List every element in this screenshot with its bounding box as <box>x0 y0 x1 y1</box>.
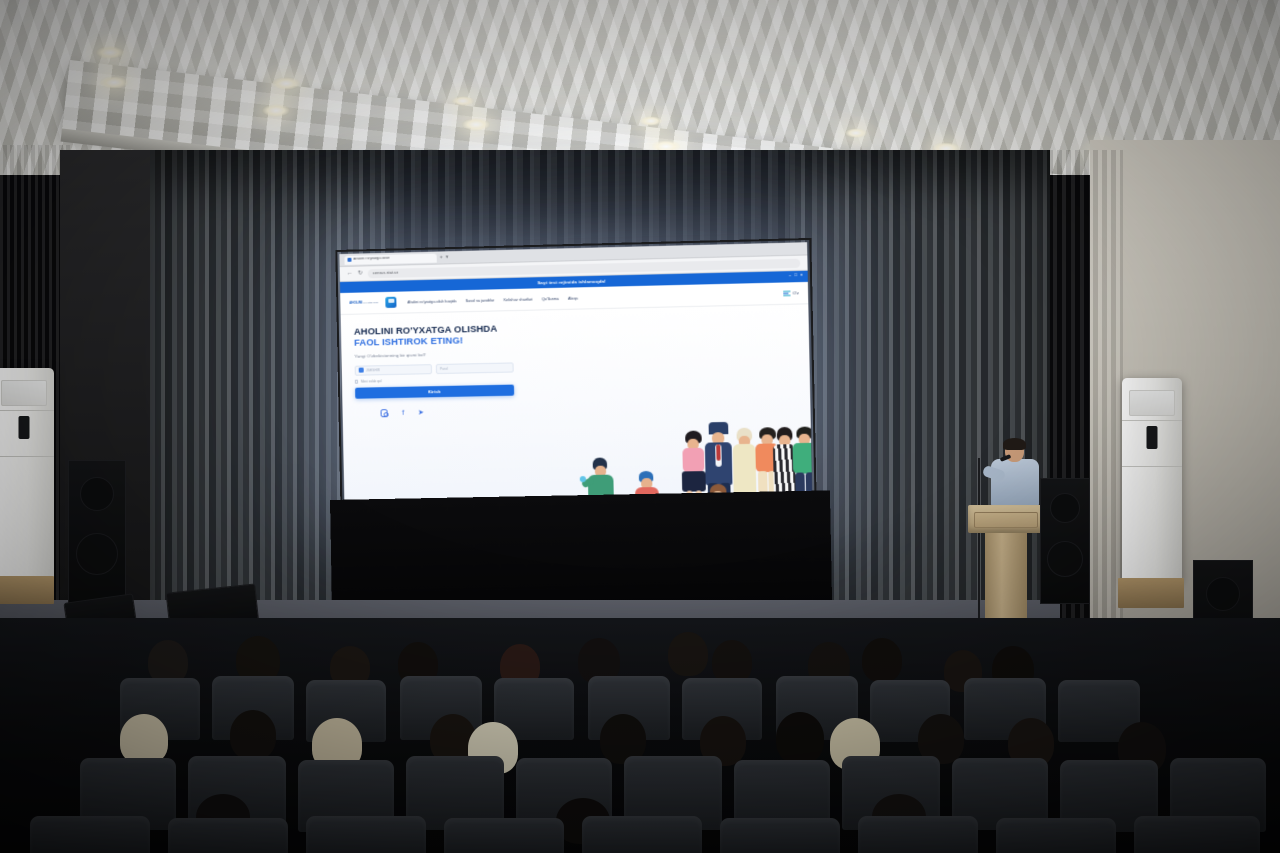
password-field[interactable]: Parol <box>436 362 514 374</box>
social-links: f ➤ <box>356 406 558 417</box>
audience-seat <box>858 816 978 853</box>
new-tab-button[interactable]: + <box>440 255 443 260</box>
back-arrow-icon[interactable]: ← <box>347 271 353 277</box>
ac-grille <box>1 380 47 406</box>
audience-head <box>862 638 902 682</box>
nav-item-terms[interactable]: Kelishuv shartlari <box>503 297 532 302</box>
logo-line1: AHOLINI <box>349 300 362 304</box>
secondary-logo-icon[interactable] <box>385 297 396 308</box>
audience-head <box>230 710 276 760</box>
favicon <box>347 258 351 262</box>
hero-subtitle: Yangi O'zbekistonning bir qismi bo'l! <box>354 349 556 358</box>
ac-right-base <box>1118 578 1184 608</box>
checkbox-box-icon <box>355 380 358 383</box>
password-placeholder: Parol <box>440 367 448 371</box>
language-bars-icon <box>783 290 790 296</box>
speaker-driver <box>76 533 118 575</box>
web-page: Sayt test rejimida ishlamoqda! – □ × AHO… <box>340 271 813 514</box>
speaker-driver <box>1206 577 1240 611</box>
login-form: JSHSHIR Parol Meni eslab qol Kirish <box>355 362 515 399</box>
audience-head <box>668 632 708 676</box>
browser-tab[interactable]: Aholini ro'yxatga olish <box>344 253 436 264</box>
air-conditioner-left <box>0 368 54 580</box>
ceiling-spotlight <box>845 128 867 138</box>
speaker-right-stage <box>1040 478 1090 604</box>
id-placeholder: JSHSHIR <box>366 368 380 372</box>
speaker-left-stage <box>68 460 126 612</box>
ceiling-spotlight <box>452 96 474 106</box>
address-text: census.stat.uz <box>373 271 398 276</box>
language-switcher[interactable]: O'z <box>783 290 798 296</box>
audience-seat <box>444 818 564 853</box>
presenter-hair <box>1003 438 1026 450</box>
stage-skirt <box>330 490 832 618</box>
login-fields-row: JSHSHIR Parol <box>355 362 514 375</box>
language-current: O'z <box>793 290 799 295</box>
speaker-driver <box>80 477 114 511</box>
reload-icon[interactable]: ↻ <box>358 270 363 276</box>
presenter-torso <box>991 459 1039 507</box>
air-conditioner-right <box>1122 378 1182 583</box>
instagram-icon[interactable] <box>381 410 389 418</box>
nav-item-about[interactable]: Aholini ro'yxatga olish haqida <box>407 299 456 304</box>
facebook-icon[interactable]: f <box>402 409 404 416</box>
ac-left-base <box>0 576 54 604</box>
audience-seat <box>582 816 702 853</box>
audience-seat <box>306 816 426 853</box>
test-mode-text: Sayt test rejimida ishlamoqda! <box>537 279 606 286</box>
seated-audience <box>0 618 1280 853</box>
nav-item-faq[interactable]: Savol va javoblar <box>465 298 494 303</box>
ac-seam <box>0 410 54 411</box>
presenter-at-podium <box>985 440 1045 510</box>
speaker-driver <box>1050 493 1080 523</box>
speaker-driver <box>1047 541 1083 577</box>
census-logo-icon[interactable]: AHOLINI ro'yxatga olish <box>349 301 378 305</box>
remember-checkbox[interactable]: Meni eslab qol <box>355 376 514 383</box>
textured-ceiling <box>0 0 1280 175</box>
audience-seat <box>30 816 150 853</box>
ceiling-spotlight <box>96 46 124 59</box>
id-card-icon <box>359 368 364 373</box>
ceiling-spotlight <box>640 116 662 126</box>
telegram-icon[interactable]: ➤ <box>418 409 424 416</box>
wooden-podium <box>968 505 1044 623</box>
audience-seat <box>720 818 840 853</box>
browser-window: Aholini ro'yxatga olish + ▾ ← ↻ census.s… <box>339 242 812 514</box>
audience-seat <box>168 818 288 853</box>
auditorium-scene: Aholini ro'yxatga olish + ▾ ← ↻ census.s… <box>0 0 1280 853</box>
remember-label: Meni eslab qol <box>361 379 382 383</box>
logo-line2: ro'yxatga olish <box>363 302 378 304</box>
audience-seat <box>1134 816 1260 853</box>
nav-links: Aholini ro'yxatga olish haqida Savol va … <box>407 296 578 304</box>
hero-title: AHOLINI RO'YXATGA OLISHDA FAOL ISHTIROK … <box>354 321 556 348</box>
audience-head-hijab <box>120 714 168 764</box>
login-button[interactable]: Kirish <box>355 385 514 399</box>
ac-display <box>19 416 30 439</box>
audience-head <box>776 712 824 764</box>
window-controls[interactable]: – □ × <box>789 272 804 277</box>
hero-section: AHOLINI RO'YXATGA OLISHDA FAOL ISHTIROK … <box>341 304 813 514</box>
ac-seam <box>1122 420 1182 421</box>
ac-display <box>1147 426 1158 449</box>
nav-item-contact[interactable]: Aloqa <box>568 296 578 300</box>
ac-grille <box>1129 390 1175 416</box>
ac-seam <box>1122 466 1182 467</box>
podium-column <box>985 532 1027 624</box>
podium-top <box>968 505 1044 533</box>
audience-seat <box>996 818 1116 853</box>
browser-tab-title: Aholini ro'yxatga olish <box>353 257 389 262</box>
hero-content: AHOLINI RO'YXATGA OLISHDA FAOL ISHTIROK … <box>354 321 557 417</box>
nav-item-guide[interactable]: Qo'llanma <box>542 296 559 300</box>
ceiling-spotlight <box>462 118 490 131</box>
ac-seam <box>0 456 54 457</box>
projection-screen: Aholini ro'yxatga olish + ▾ ← ↻ census.s… <box>339 242 812 514</box>
ceiling-spotlight <box>272 77 300 90</box>
ceiling-spotlight <box>100 76 128 89</box>
id-field[interactable]: JSHSHIR <box>355 364 432 376</box>
ceiling-spotlight <box>262 104 290 117</box>
tab-list-button[interactable]: ▾ <box>446 255 449 260</box>
